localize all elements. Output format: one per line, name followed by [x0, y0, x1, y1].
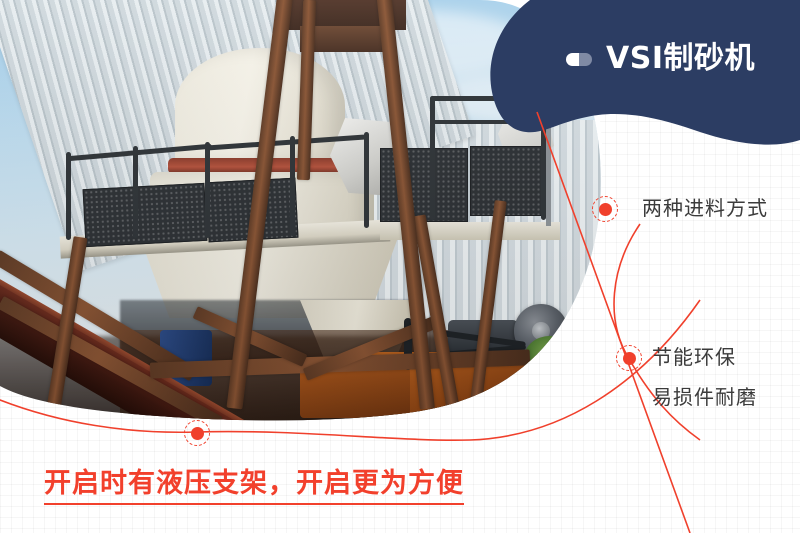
photo-railing	[290, 136, 295, 236]
feature-label-feed: 两种进料方式	[642, 198, 768, 218]
red-dot-marker-icon	[592, 196, 618, 222]
page-title: VSI制砂机	[606, 44, 755, 74]
photo-railing	[430, 96, 435, 220]
photo-railing	[66, 152, 71, 240]
photo-shrub	[524, 336, 576, 380]
photo-railing	[133, 146, 138, 238]
photo-shrub	[556, 320, 626, 374]
photo-railing	[205, 142, 210, 238]
bottom-caption: 开启时有液压支架，开启更为方便	[44, 470, 464, 505]
banner-image: VSI制砂机 两种进料方式 节能环保 易损件耐磨 开启时有液压支架，开启更为方便	[0, 0, 800, 533]
photo-mesh-panel	[83, 183, 208, 247]
feature-label-wear: 易损件耐磨	[652, 387, 757, 407]
banner-title-row: VSI制砂机	[566, 44, 755, 74]
pill-bullet-icon	[566, 53, 592, 66]
photo-railing	[364, 132, 369, 228]
red-dot-marker-icon	[616, 345, 642, 371]
feature-label-energy: 节能环保	[652, 347, 736, 367]
photo-mesh-panel	[470, 146, 544, 216]
red-dot-marker-icon	[184, 420, 210, 446]
